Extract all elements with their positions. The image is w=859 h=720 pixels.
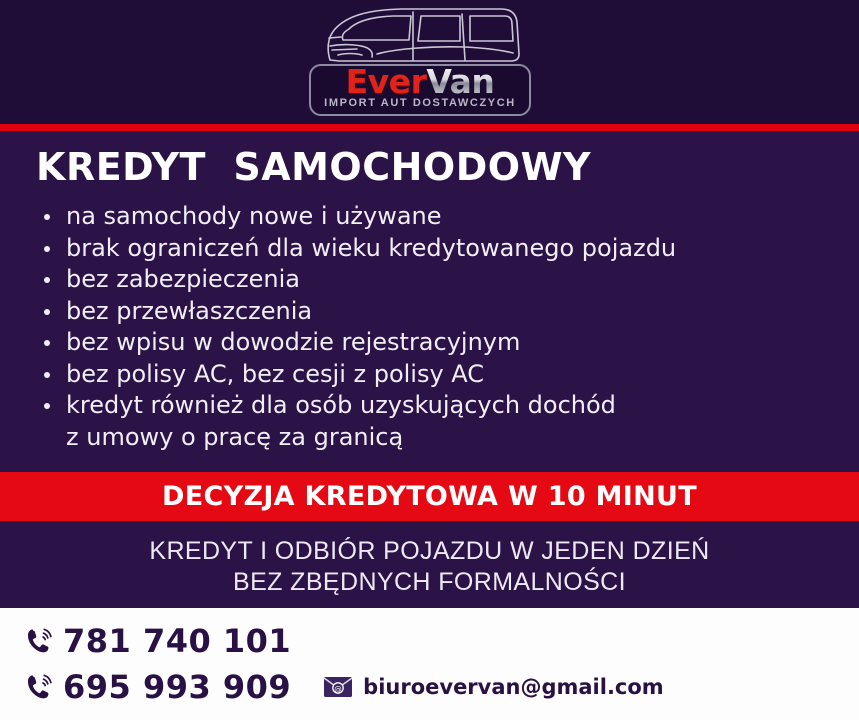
highlight-banner: DECYZJA KREDYTOWA W 10 MINUT [0, 472, 859, 521]
email-address: biuroevervan@gmail.com [363, 675, 664, 699]
email-group[interactable]: @ biuroevervan@gmail.com [323, 675, 664, 699]
red-divider-rule [0, 124, 859, 131]
list-item: bez zabezpieczenia [38, 264, 818, 296]
list-item: na samochody nowe i używane [38, 201, 818, 233]
highlight-banner-text: DECYZJA KREDYTOWA W 10 MINUT [162, 481, 697, 512]
advertisement-banner: EverVan IMPORT AUT DOSTAWCZYCH KREDYT SA… [0, 0, 859, 720]
list-item: brak ograniczeń dla wieku kredytowanego … [38, 233, 818, 265]
envelope-at-icon: @ [323, 676, 353, 698]
footer: 781 740 101 695 993 909 @ [0, 608, 859, 720]
list-item: bez przewłaszczenia [38, 296, 818, 328]
page-title: KREDYT SAMOCHODOWY [36, 145, 591, 189]
phone-number-2: 695 993 909 [63, 668, 291, 706]
logo-tagline: IMPORT AUT DOSTAWCZYCH [311, 97, 529, 109]
logo-word-ever: Ever [346, 64, 427, 101]
subhead-text: KREDYT I ODBIÓR POJAZDU W JEDEN DZIEŃ BE… [0, 536, 859, 598]
logo-word-van: Van [426, 64, 494, 101]
phone-number-1: 781 740 101 [63, 622, 291, 660]
contact-block: 781 740 101 695 993 909 @ [24, 618, 664, 710]
brand-logo[interactable]: EverVan IMPORT AUT DOSTAWCZYCH [305, 2, 537, 120]
phone-icon [24, 672, 54, 702]
phone-icon [24, 626, 54, 656]
logo-nameplate: EverVan IMPORT AUT DOSTAWCZYCH [309, 64, 531, 116]
main-panel: KREDYT SAMOCHODOWY na samochody nowe i u… [0, 131, 859, 472]
feature-list: na samochody nowe i używane brak ogranic… [38, 201, 818, 453]
subhead-panel: KREDYT I ODBIÓR POJAZDU W JEDEN DZIEŃ BE… [0, 521, 859, 608]
list-item: bez wpisu w dowodzie rejestracyjnym [38, 327, 818, 359]
list-item: bez polisy AC, bez cesji z polisy AC [38, 359, 818, 391]
phone-row-2[interactable]: 695 993 909 @ biuroevervan@gmail.com [24, 664, 664, 710]
svg-text:@: @ [334, 684, 342, 693]
logo-band: EverVan IMPORT AUT DOSTAWCZYCH [0, 0, 859, 124]
phone-row-1[interactable]: 781 740 101 [24, 618, 664, 664]
logo-wordmark: EverVan [311, 64, 529, 100]
list-item: kredyt również dla osób uzyskujących doc… [38, 390, 818, 453]
van-outline-icon [305, 2, 537, 70]
